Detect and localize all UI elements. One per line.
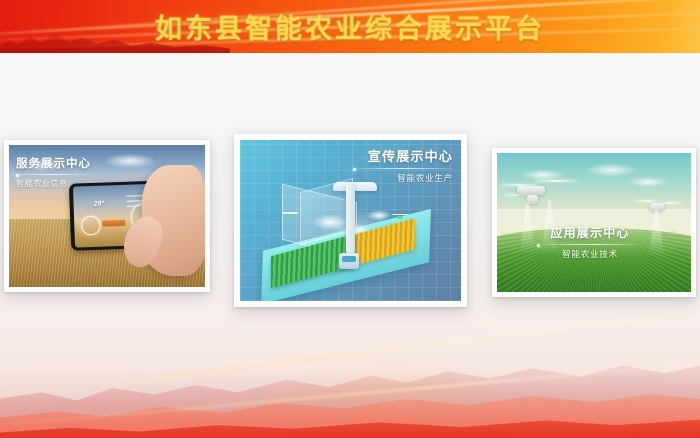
card-service-subtitle: 智能农业信息 — [16, 178, 91, 189]
header-banner: 如东县智能农业综合展示平台 — [0, 0, 700, 53]
card-application-title: 应用展示中心 — [542, 224, 638, 241]
drone-large-icon — [499, 175, 580, 217]
hud-ring-icon — [81, 216, 101, 236]
page-root: 如东县智能农业综合展示平台 28° — [0, 0, 700, 438]
card-promotion-overlay: 宣传展示中心 智能农业生产 — [357, 146, 453, 184]
card-promotion-title: 宣传展示中心 — [357, 146, 453, 165]
page-title: 如东县智能农业综合展示平台 — [0, 0, 700, 53]
drone-small-icon — [633, 195, 685, 226]
cloud-icon — [95, 151, 165, 171]
screen-data-chip — [102, 220, 125, 227]
bullet-dot-icon — [537, 244, 540, 247]
bullet-dot-icon — [16, 174, 19, 177]
divider — [16, 174, 88, 175]
divider — [542, 244, 638, 245]
card-application-subtitle: 智能农业技术 — [542, 248, 638, 260]
water-tank — [339, 253, 359, 269]
card-service-title: 服务展示中心 — [16, 155, 91, 171]
card-service-center[interactable]: 28° 服务展示中心 智能农业信息 — [4, 140, 210, 292]
cloud-icon — [362, 208, 396, 223]
card-application-overlay: 应用展示中心 智能农业技术 — [542, 224, 638, 260]
card-service-overlay: 服务展示中心 智能农业信息 — [16, 155, 91, 189]
divider — [357, 168, 453, 169]
card-application-image — [497, 153, 691, 292]
card-application-center[interactable]: 应用展示中心 智能农业技术 — [492, 148, 696, 297]
drone-icon — [392, 214, 408, 220]
card-promotion-center[interactable]: 宣传展示中心 智能农业生产 — [234, 134, 467, 307]
drone-icon — [282, 212, 298, 218]
card-promotion-subtitle: 智能农业生产 — [357, 172, 453, 184]
irrigation-arch-post — [346, 183, 355, 254]
bullet-dot-icon — [353, 168, 356, 171]
screen-temperature-readout: 28° — [93, 200, 104, 207]
